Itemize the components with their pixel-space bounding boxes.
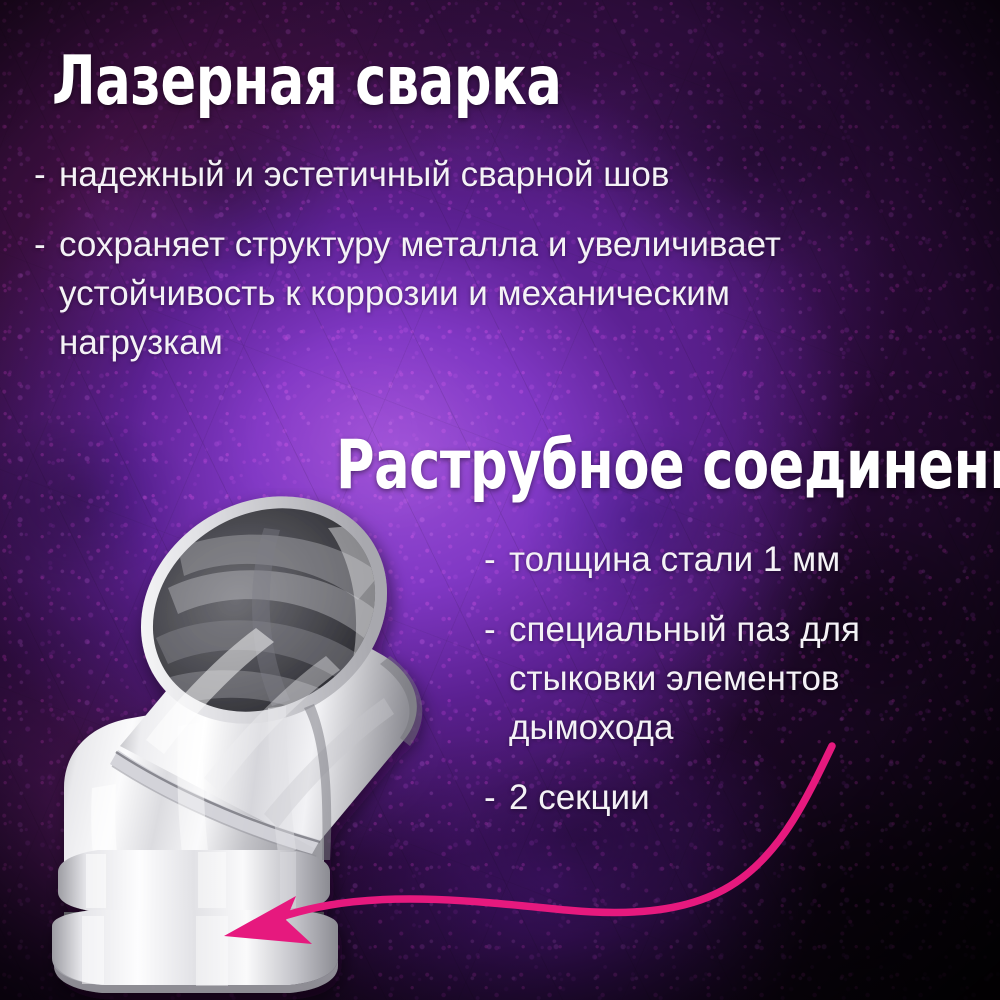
infographic-canvas: Лазерная сварка - надежный и эстетичный … xyxy=(0,0,1000,1000)
bullet-text: 2 секции xyxy=(509,773,954,822)
bullet-dash: - xyxy=(484,773,509,822)
socket-highlight xyxy=(280,852,296,908)
bullet-item: - сохраняет структуру металла и увеличив… xyxy=(34,220,914,367)
bullet-text: сохраняет структуру металла и увеличивае… xyxy=(59,220,914,367)
socket-highlight xyxy=(82,916,104,984)
bullet-item: - специальный паз для стыковки элементов… xyxy=(484,605,954,752)
bullet-dash: - xyxy=(484,605,509,752)
bullet-text: надежный и эстетичный сварной шов xyxy=(59,150,914,199)
bullet-list-socket: - толщина стали 1 мм - специальный паз д… xyxy=(484,535,954,822)
bullet-dash: - xyxy=(34,150,59,199)
bullet-dash: - xyxy=(34,220,59,367)
product-image-chimney-elbow xyxy=(28,488,448,1000)
bullet-item: - надежный и эстетичный сварной шов xyxy=(34,150,914,199)
bullet-item: - толщина стали 1 мм xyxy=(484,535,954,584)
bullet-text: толщина стали 1 мм xyxy=(509,535,954,584)
bullet-text: специальный паз для стыковки элементов д… xyxy=(509,605,954,752)
bullet-dash: - xyxy=(484,535,509,584)
bullet-list-welding: - надежный и эстетичный сварной шов - со… xyxy=(34,150,914,367)
socket-highlight xyxy=(198,852,226,908)
bullet-item: - 2 секции xyxy=(484,773,954,822)
heading-laser-welding: Лазерная сварка xyxy=(52,48,561,116)
socket-highlight xyxy=(86,854,106,908)
socket-highlight xyxy=(196,916,228,986)
elbow-geometry xyxy=(52,488,429,993)
